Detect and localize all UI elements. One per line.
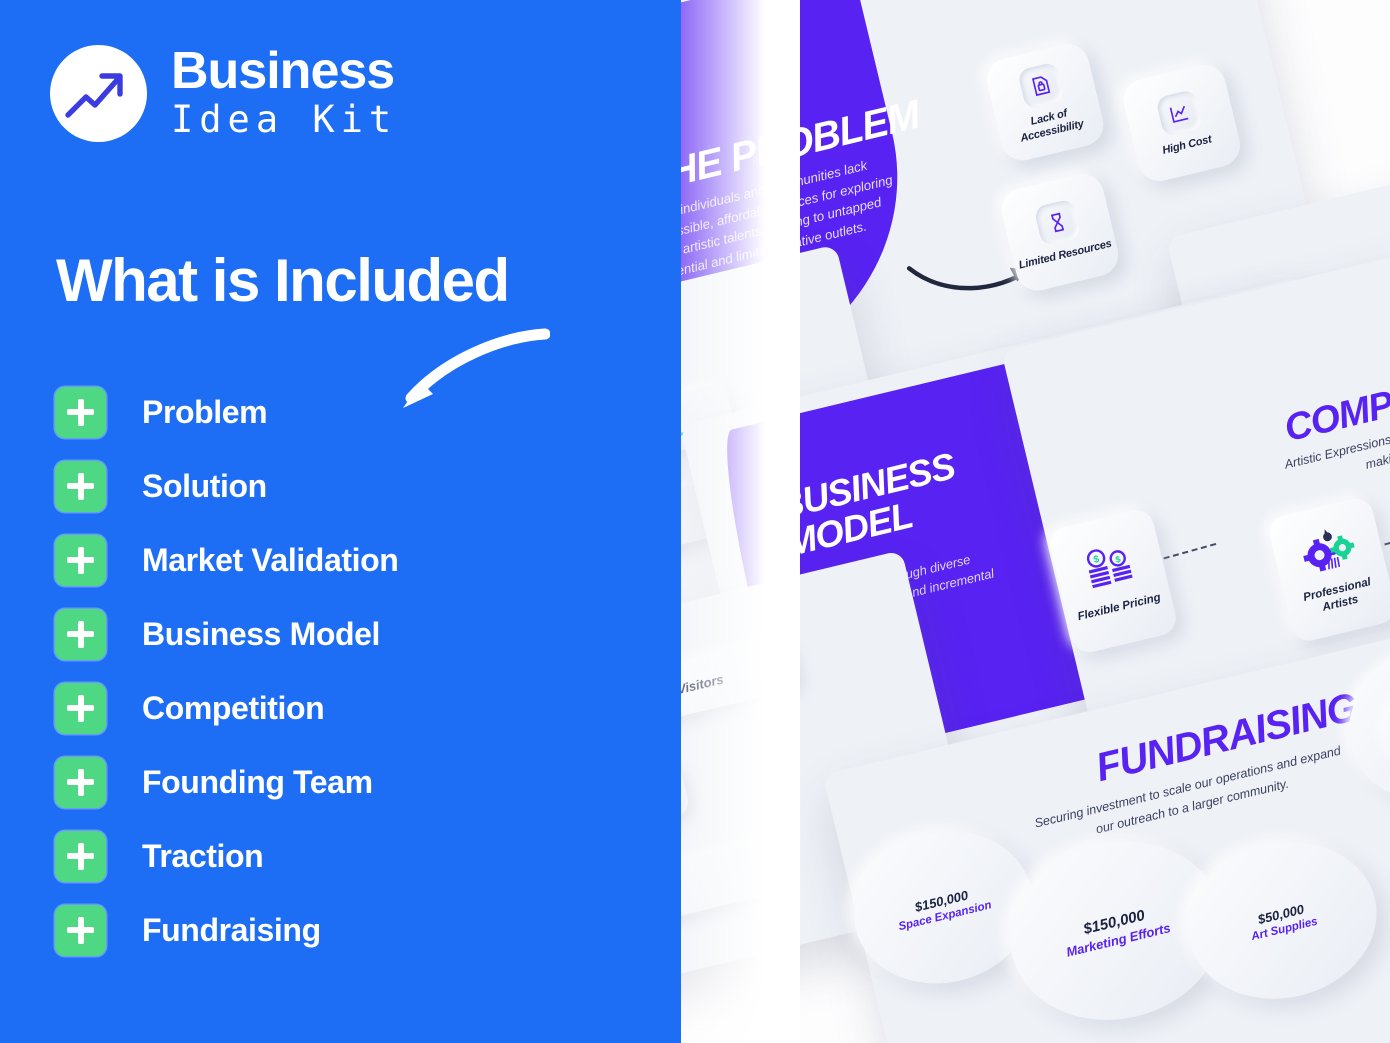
list-item-label: Market Validation xyxy=(142,542,398,579)
competition-connector xyxy=(1154,543,1216,562)
svg-text:$: $ xyxy=(1093,554,1101,566)
left-info-panel: Business Idea Kit What is Included Probl… xyxy=(0,0,681,1043)
list-item[interactable]: Market Validation xyxy=(55,534,615,586)
page-title: What is Included xyxy=(56,246,509,315)
plus-icon xyxy=(55,535,106,586)
list-item-label: Solution xyxy=(142,468,267,505)
list-item[interactable]: Competition xyxy=(55,682,615,734)
brand-subtitle: Idea Kit xyxy=(171,99,397,140)
growth-chart-circle-icon xyxy=(50,45,147,142)
list-item-label: Problem xyxy=(142,394,267,431)
included-list: Problem Solution Market Validation Busin… xyxy=(55,386,615,978)
hourglass-icon xyxy=(1033,198,1081,246)
competition-card[interactable]: Professional Artists xyxy=(1266,495,1390,644)
list-item-label: Traction xyxy=(142,838,263,875)
plus-icon xyxy=(55,461,106,512)
line-chart-icon xyxy=(1155,89,1203,137)
svg-text:$: $ xyxy=(1114,554,1121,565)
competition-card-label: Professional Artists xyxy=(1284,572,1390,624)
plus-icon xyxy=(55,387,106,438)
problem-point-card[interactable]: High Cost xyxy=(1119,60,1244,185)
list-item[interactable]: Business Model xyxy=(55,608,615,660)
list-item-label: Competition xyxy=(142,690,324,727)
brand-logo: Business Idea Kit xyxy=(50,45,397,142)
problem-point-card[interactable]: Lack of Accessibility xyxy=(982,39,1107,164)
list-item[interactable]: Fundraising xyxy=(55,904,615,956)
plus-icon xyxy=(55,609,106,660)
problem-point-label: High Cost xyxy=(1161,133,1213,158)
list-item-label: Founding Team xyxy=(142,764,373,801)
plus-icon xyxy=(55,905,106,956)
list-item[interactable]: Founding Team xyxy=(55,756,615,808)
gears-lightbulb-icon xyxy=(1296,522,1360,582)
plus-icon xyxy=(55,683,106,734)
brand-title: Business xyxy=(171,46,397,97)
list-item[interactable]: Problem xyxy=(55,386,615,438)
plus-icon xyxy=(55,831,106,882)
list-item-label: Fundraising xyxy=(142,912,321,949)
problem-point-label: Lack of Accessibility xyxy=(997,100,1104,150)
money-stack-coins-icon: $ $ xyxy=(1080,541,1140,598)
slide-collage: THE PROBLEM Many individuals and communi… xyxy=(600,0,1390,1043)
competition-card-label: Flexible Pricing xyxy=(1076,592,1162,625)
list-item-label: Business Model xyxy=(142,616,380,653)
problem-point-label: Limited Resources xyxy=(1018,238,1113,273)
list-item[interactable]: Solution xyxy=(55,460,615,512)
list-item[interactable]: Traction xyxy=(55,830,615,882)
locked-document-icon xyxy=(1017,62,1065,110)
plus-icon xyxy=(55,757,106,808)
poster-canvas: THE PROBLEM Many individuals and communi… xyxy=(0,0,1390,1043)
